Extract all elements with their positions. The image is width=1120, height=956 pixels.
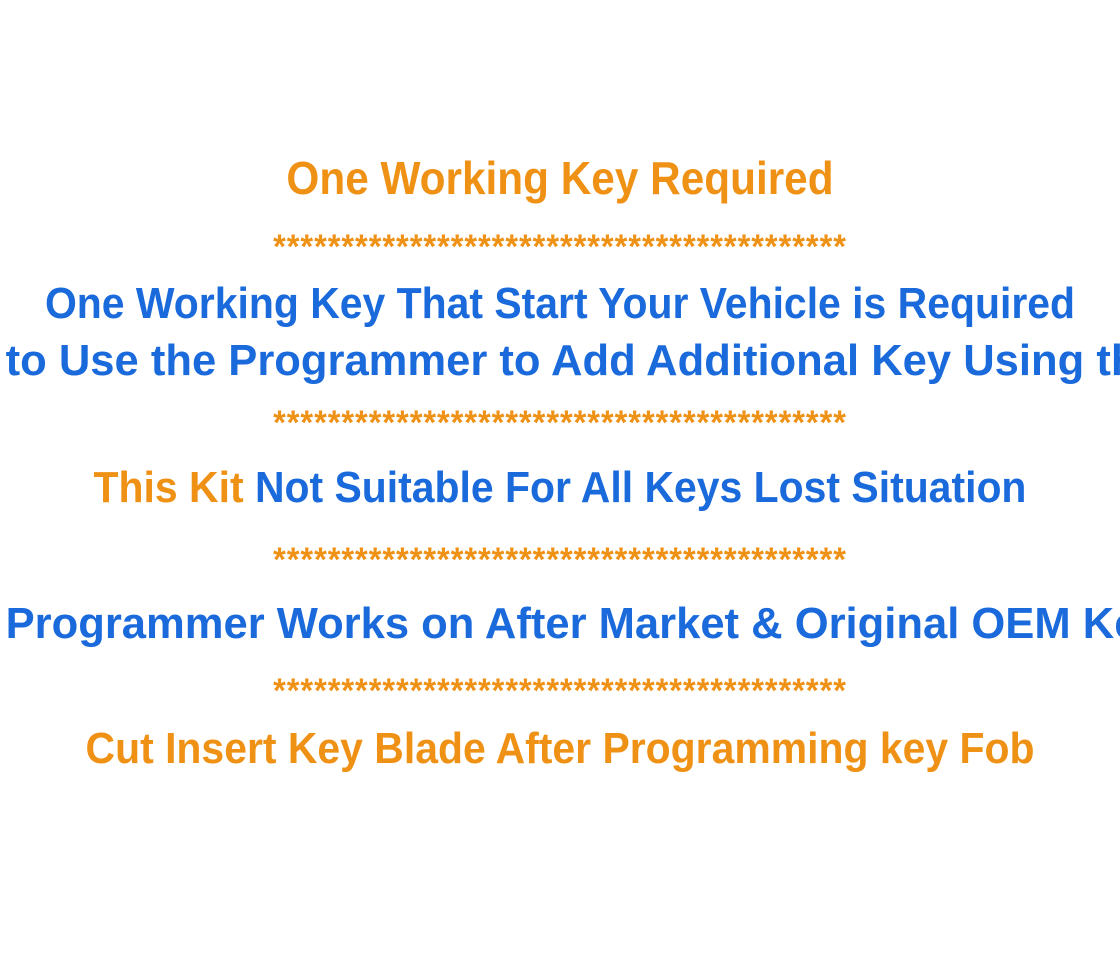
line-not-suitable-lead: This Kit xyxy=(94,463,244,512)
asterisk-separator-2: ****************************************… xyxy=(22,406,1097,440)
promo-banner: One Working Key Required ***************… xyxy=(0,0,1120,956)
asterisk-separator-4: ****************************************… xyxy=(22,674,1097,708)
line-programmer-works-aftermarket-oem: Programmer Works on After Market & Origi… xyxy=(6,602,1115,646)
line-not-suitable-rest: Not Suitable For All Keys Lost Situation xyxy=(244,463,1027,512)
line-not-suitable-all-keys-lost: This Kit Not Suitable For All Keys Lost … xyxy=(39,466,1081,510)
line-working-key-starts-vehicle: One Working Key That Start Your Vehicle … xyxy=(39,282,1081,326)
line-cut-insert-key-blade: Cut Insert Key Blade After Programming k… xyxy=(39,727,1081,771)
asterisk-separator-3: ****************************************… xyxy=(22,543,1097,577)
asterisk-separator-1: ****************************************… xyxy=(22,230,1097,264)
headline-one-working-key-required: One Working Key Required xyxy=(45,155,1075,201)
line-use-programmer-add-key: to Use the Programmer to Add Additional … xyxy=(6,339,1115,383)
